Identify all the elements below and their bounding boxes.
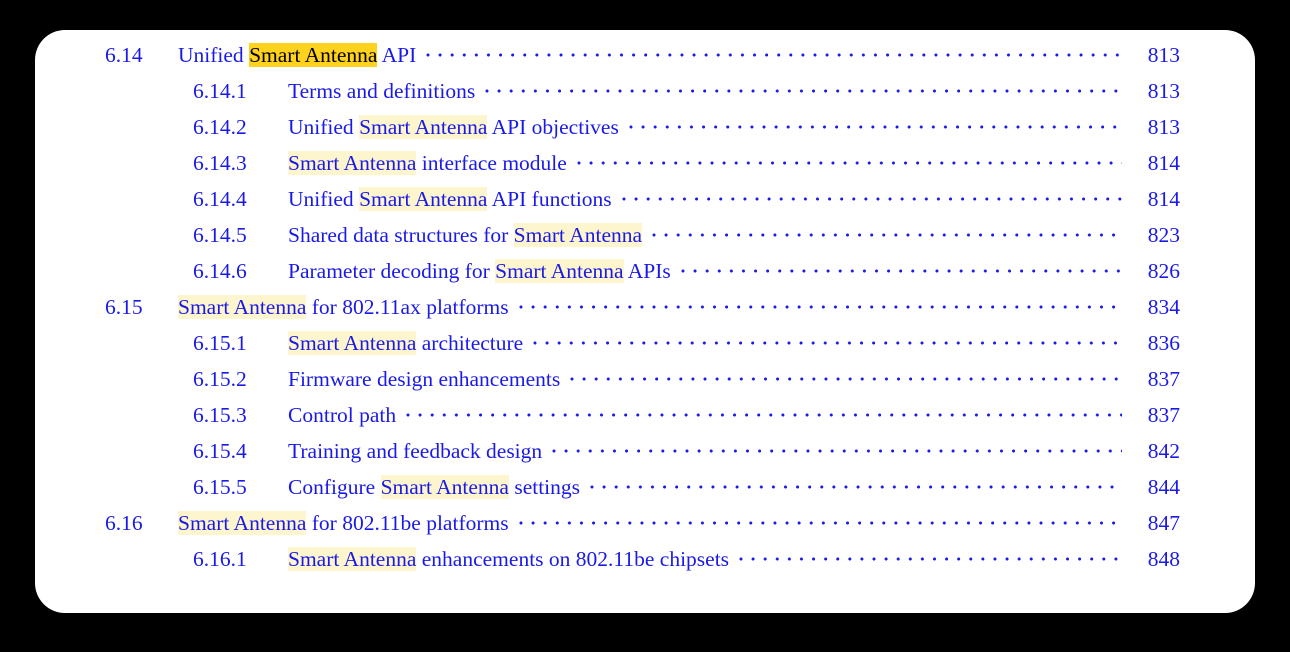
toc-entry-title[interactable]: Shared data structures for Smart Antenna [288, 217, 642, 253]
search-match: Smart Antenna [495, 259, 623, 283]
dot-leader [426, 37, 1122, 73]
toc-entry[interactable]: 6.15.1Smart Antenna architecture836 [35, 325, 1255, 361]
toc-page-number[interactable]: 813 [1132, 109, 1180, 145]
search-match: Smart Antenna [178, 511, 306, 535]
toc-entry-title[interactable]: Parameter decoding for Smart Antenna API… [288, 253, 671, 289]
toc-page-number[interactable]: 814 [1132, 145, 1180, 181]
toc-entry-title[interactable]: Smart Antenna for 802.11be platforms [178, 505, 509, 541]
toc-entry[interactable]: 6.15Smart Antenna for 802.11ax platforms… [35, 289, 1255, 325]
toc-page-number[interactable]: 848 [1132, 541, 1180, 577]
active-search-match: Smart Antenna [249, 43, 377, 67]
toc-entry[interactable]: 6.14.2Unified Smart Antenna API objectiv… [35, 109, 1255, 145]
toc-entry-title[interactable]: Unified Smart Antenna API [178, 37, 416, 73]
dot-leader [552, 433, 1122, 469]
toc-page-number[interactable]: 837 [1132, 397, 1180, 433]
search-match: Smart Antenna [288, 331, 416, 355]
toc-entry-number: 6.16 [105, 505, 189, 541]
toc-title-text: Shared data structures for [288, 223, 514, 247]
toc-title-text: for 802.11be platforms [306, 511, 508, 535]
dot-leader [485, 73, 1122, 109]
toc-entry-number: 6.15.3 [193, 397, 285, 433]
screenshot-viewport: 6.14Unified Smart Antenna API8136.14.1Te… [0, 0, 1290, 652]
toc-entry[interactable]: 6.15.2Firmware design enhancements837 [35, 361, 1255, 397]
dot-leader [570, 361, 1122, 397]
toc-entry[interactable]: 6.14.3Smart Antenna interface module814 [35, 145, 1255, 181]
toc-entry-title[interactable]: Configure Smart Antenna settings [288, 469, 580, 505]
toc-entry-title[interactable]: Smart Antenna enhancements on 802.11be c… [288, 541, 729, 577]
toc-entry[interactable]: 6.14.5Shared data structures for Smart A… [35, 217, 1255, 253]
dot-leader [681, 253, 1122, 289]
toc-title-text: Unified [288, 187, 359, 211]
toc-entry-title[interactable]: Smart Antenna interface module [288, 145, 567, 181]
toc-entry[interactable]: 6.16Smart Antenna for 802.11be platforms… [35, 505, 1255, 541]
toc-entry-number: 6.15 [105, 289, 189, 325]
toc-page-number[interactable]: 837 [1132, 361, 1180, 397]
search-match: Smart Antenna [359, 115, 487, 139]
toc-page-number[interactable]: 823 [1132, 217, 1180, 253]
toc-title-text: architecture [416, 331, 523, 355]
dot-leader [652, 217, 1122, 253]
toc-entry-number: 6.14.5 [193, 217, 285, 253]
toc-entry[interactable]: 6.14.4Unified Smart Antenna API function… [35, 181, 1255, 217]
dot-leader [519, 505, 1122, 541]
dot-leader [590, 469, 1122, 505]
toc-entry-number: 6.14.2 [193, 109, 285, 145]
dot-leader [406, 397, 1122, 433]
toc-title-text: API objectives [487, 115, 618, 139]
toc-entry[interactable]: 6.14Unified Smart Antenna API813 [35, 37, 1255, 73]
search-match: Smart Antenna [288, 547, 416, 571]
toc-entry[interactable]: 6.15.3Control path837 [35, 397, 1255, 433]
toc-title-text: API functions [487, 187, 611, 211]
toc-entry-number: 6.15.1 [193, 325, 285, 361]
toc-title-text: enhancements on 802.11be chipsets [416, 547, 729, 571]
toc-entry-title[interactable]: Terms and definitions [288, 73, 475, 109]
table-of-contents: 6.14Unified Smart Antenna API8136.14.1Te… [35, 30, 1255, 577]
toc-entry-number: 6.16.1 [193, 541, 285, 577]
toc-title-text: Unified [288, 115, 359, 139]
toc-title-text: Terms and definitions [288, 79, 475, 103]
toc-title-text: APIs [624, 259, 671, 283]
toc-entry-number: 6.15.4 [193, 433, 285, 469]
dot-leader [622, 181, 1122, 217]
toc-entry-title[interactable]: Control path [288, 397, 396, 433]
toc-page-number[interactable]: 813 [1132, 73, 1180, 109]
toc-entry-number: 6.14 [105, 37, 189, 73]
toc-entry-title[interactable]: Unified Smart Antenna API objectives [288, 109, 619, 145]
search-match: Smart Antenna [288, 151, 416, 175]
toc-entry-number: 6.15.5 [193, 469, 285, 505]
toc-title-text: Configure [288, 475, 381, 499]
dot-leader [533, 325, 1122, 361]
toc-title-text: Training and feedback design [288, 439, 542, 463]
search-match: Smart Antenna [514, 223, 642, 247]
toc-page-number[interactable]: 847 [1132, 505, 1180, 541]
toc-entry[interactable]: 6.15.5Configure Smart Antenna settings84… [35, 469, 1255, 505]
toc-entry[interactable]: 6.15.4Training and feedback design842 [35, 433, 1255, 469]
toc-entry-title[interactable]: Smart Antenna architecture [288, 325, 523, 361]
toc-title-text: Control path [288, 403, 396, 427]
toc-title-text: settings [509, 475, 580, 499]
toc-entry[interactable]: 6.14.6Parameter decoding for Smart Anten… [35, 253, 1255, 289]
toc-page-number[interactable]: 834 [1132, 289, 1180, 325]
toc-entry-title[interactable]: Unified Smart Antenna API functions [288, 181, 612, 217]
search-match: Smart Antenna [359, 187, 487, 211]
toc-title-text: Parameter decoding for [288, 259, 495, 283]
toc-entry-title[interactable]: Training and feedback design [288, 433, 542, 469]
toc-entry-title[interactable]: Smart Antenna for 802.11ax platforms [178, 289, 509, 325]
toc-page-number[interactable]: 814 [1132, 181, 1180, 217]
toc-entry-number: 6.14.6 [193, 253, 285, 289]
search-match: Smart Antenna [381, 475, 509, 499]
toc-page-number[interactable]: 813 [1132, 37, 1180, 73]
toc-entry[interactable]: 6.16.1Smart Antenna enhancements on 802.… [35, 541, 1255, 577]
toc-entry-title[interactable]: Firmware design enhancements [288, 361, 560, 397]
toc-page-number[interactable]: 844 [1132, 469, 1180, 505]
toc-title-text: Firmware design enhancements [288, 367, 560, 391]
dot-leader [629, 109, 1122, 145]
search-match: Smart Antenna [178, 295, 306, 319]
toc-entry-number: 6.14.1 [193, 73, 285, 109]
dot-leader [519, 289, 1122, 325]
toc-title-text: interface module [416, 151, 566, 175]
toc-entry-number: 6.14.4 [193, 181, 285, 217]
toc-title-text: API [377, 43, 416, 67]
toc-title-text: Unified [178, 43, 249, 67]
pdf-page-card: 6.14Unified Smart Antenna API8136.14.1Te… [35, 30, 1255, 613]
toc-page-number[interactable]: 826 [1132, 253, 1180, 289]
toc-entry-number: 6.15.2 [193, 361, 285, 397]
toc-page-number[interactable]: 842 [1132, 433, 1180, 469]
toc-entry-number: 6.14.3 [193, 145, 285, 181]
toc-page-number[interactable]: 836 [1132, 325, 1180, 361]
toc-entry[interactable]: 6.14.1Terms and definitions813 [35, 73, 1255, 109]
dot-leader [577, 145, 1122, 181]
dot-leader [739, 541, 1122, 577]
toc-title-text: for 802.11ax platforms [306, 295, 508, 319]
